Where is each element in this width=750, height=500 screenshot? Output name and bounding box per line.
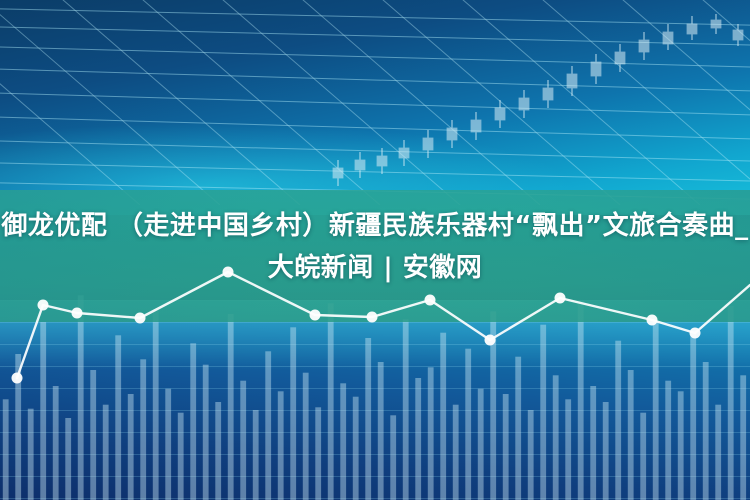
headline-text: 御龙优配 （走进中国乡村）新疆民族乐器村“飘出”文旅合奏曲_ 大皖新闻 | 安徽… xyxy=(0,205,750,289)
news-banner-image: 御龙优配 （走进中国乡村）新疆民族乐器村“飘出”文旅合奏曲_ 大皖新闻 | 安徽… xyxy=(0,0,750,500)
headline-line-1: 御龙优配 （走进中国乡村）新疆民族乐器村“飘出”文旅合奏曲_ xyxy=(0,205,750,247)
headline-line-2: 大皖新闻 | 安徽网 xyxy=(0,247,750,289)
